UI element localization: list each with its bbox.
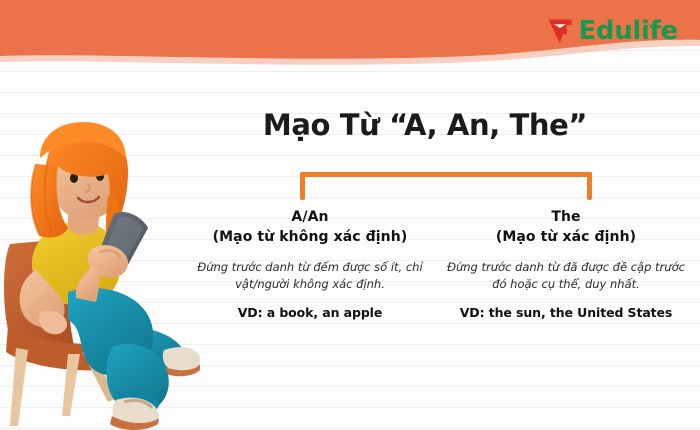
column-heading: A/An (Mạo từ không xác định) [188, 208, 432, 248]
edulife-triangle-mark-icon [547, 16, 573, 46]
column-description: Đứng trước danh từ đếm được số ít, chỉ v… [188, 259, 432, 294]
bracket-right-stem [587, 172, 592, 200]
column-example: VD: a book, an apple [188, 305, 432, 320]
column-heading-title: A/An [291, 209, 328, 225]
column-definite-article: The (Mạo từ xác định) Đứng trước danh từ… [438, 208, 694, 320]
bracket-horizontal-bar [300, 172, 592, 177]
column-description: Đứng trước danh từ đã được đề cập trước … [444, 259, 688, 294]
article-columns: A/An (Mạo từ không xác định) Đứng trước … [182, 208, 694, 320]
bracket-left-stem [300, 172, 305, 200]
logo-text: Edulife [578, 18, 678, 44]
illustration-graphic [0, 96, 206, 430]
column-heading-title: The [551, 209, 580, 225]
column-heading-subtitle: (Mạo từ xác định) [444, 228, 688, 248]
infographic-canvas: Edulife Mạo Từ “A, An, The” A/An (Mạo từ… [0, 0, 700, 430]
column-example: VD: the sun, the United States [444, 305, 688, 320]
girl-reading-tablet-illustration [0, 96, 206, 430]
bracket-connector [300, 172, 592, 202]
edulife-logo[interactable]: Edulife [547, 16, 678, 46]
column-indefinite-article: A/An (Mạo từ không xác định) Đứng trước … [182, 208, 438, 320]
column-heading-subtitle: (Mạo từ không xác định) [188, 228, 432, 248]
column-heading: The (Mạo từ xác định) [444, 208, 688, 248]
